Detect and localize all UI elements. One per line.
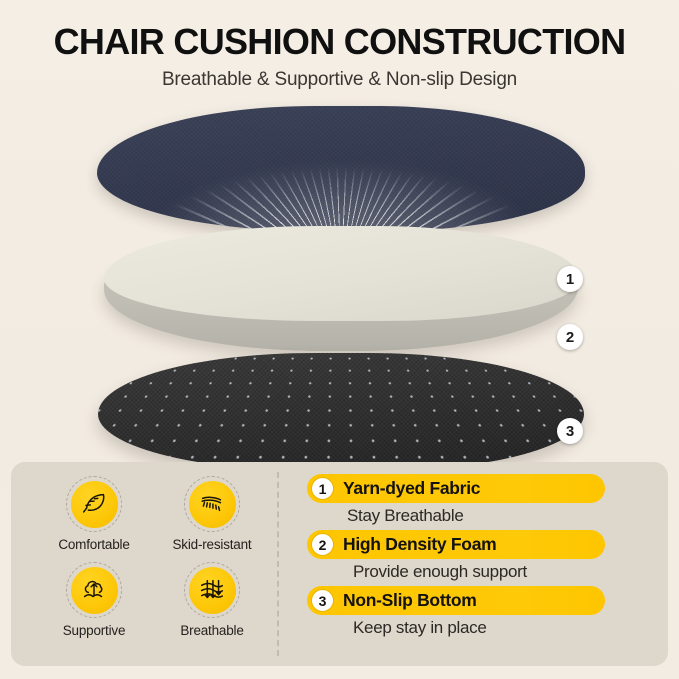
feature-icon-ring [66,476,122,532]
yarn-dyed-fabric-layer [97,106,585,231]
panel-divider [277,472,279,656]
list-item-subtitle: Provide enough support [353,562,655,582]
feature-list: 1 Yarn-dyed Fabric Stay Breathable 2 Hig… [307,474,655,642]
feature-label: Skid-resistant [173,537,252,552]
list-number-badge: 2 [311,533,334,556]
list-item-title: High Density Foam [343,534,496,555]
list-item-subtitle: Keep stay in place [353,618,655,638]
page-subtitle: Breathable & Supportive & Non-slip Desig… [0,60,679,91]
feather-icon [71,481,118,528]
header: CHAIR CUSHION CONSTRUCTION Breathable & … [0,0,679,91]
feature-breathable[interactable]: Breathable [153,562,271,638]
callout-marker-2: 2 [557,324,583,350]
airflow-icon [189,567,236,614]
feature-icon-grid: Comfortable Skid-resistant [35,476,271,638]
infographic-page: CHAIR CUSHION CONSTRUCTION Breathable & … [0,0,679,679]
list-item-title: Yarn-dyed Fabric [343,478,480,499]
cloud-up-arrow-icon [71,567,118,614]
feature-label: Comfortable [58,537,129,552]
non-slip-dots-texture [98,353,584,471]
feature-icon-ring [66,562,122,618]
feature-skid-resistant[interactable]: Skid-resistant [153,476,271,552]
feature-icon-ring [184,562,240,618]
list-number-badge: 1 [311,477,334,500]
callout-marker-1: 1 [557,266,583,292]
list-item-subtitle: Stay Breathable [347,506,655,526]
feature-list-item-3[interactable]: 3 Non-Slip Bottom [307,586,605,615]
feature-panel: Comfortable Skid-resistant [11,462,668,666]
callout-marker-3: 3 [557,418,583,444]
product-layer-stack: 1 2 3 [0,98,679,458]
fabric-light-rays [97,106,585,231]
page-title: CHAIR CUSHION CONSTRUCTION [0,0,679,60]
brush-bristles-icon [189,481,236,528]
feature-supportive[interactable]: Supportive [35,562,153,638]
list-number-badge: 3 [311,589,334,612]
non-slip-bottom-layer [98,353,584,471]
feature-list-item-1[interactable]: 1 Yarn-dyed Fabric [307,474,605,503]
feature-label: Supportive [63,623,126,638]
feature-label: Breathable [180,623,243,638]
high-density-foam-layer-top [104,226,578,321]
feature-icon-ring [184,476,240,532]
feature-comfortable[interactable]: Comfortable [35,476,153,552]
feature-list-item-2[interactable]: 2 High Density Foam [307,530,605,559]
list-item-title: Non-Slip Bottom [343,590,477,611]
